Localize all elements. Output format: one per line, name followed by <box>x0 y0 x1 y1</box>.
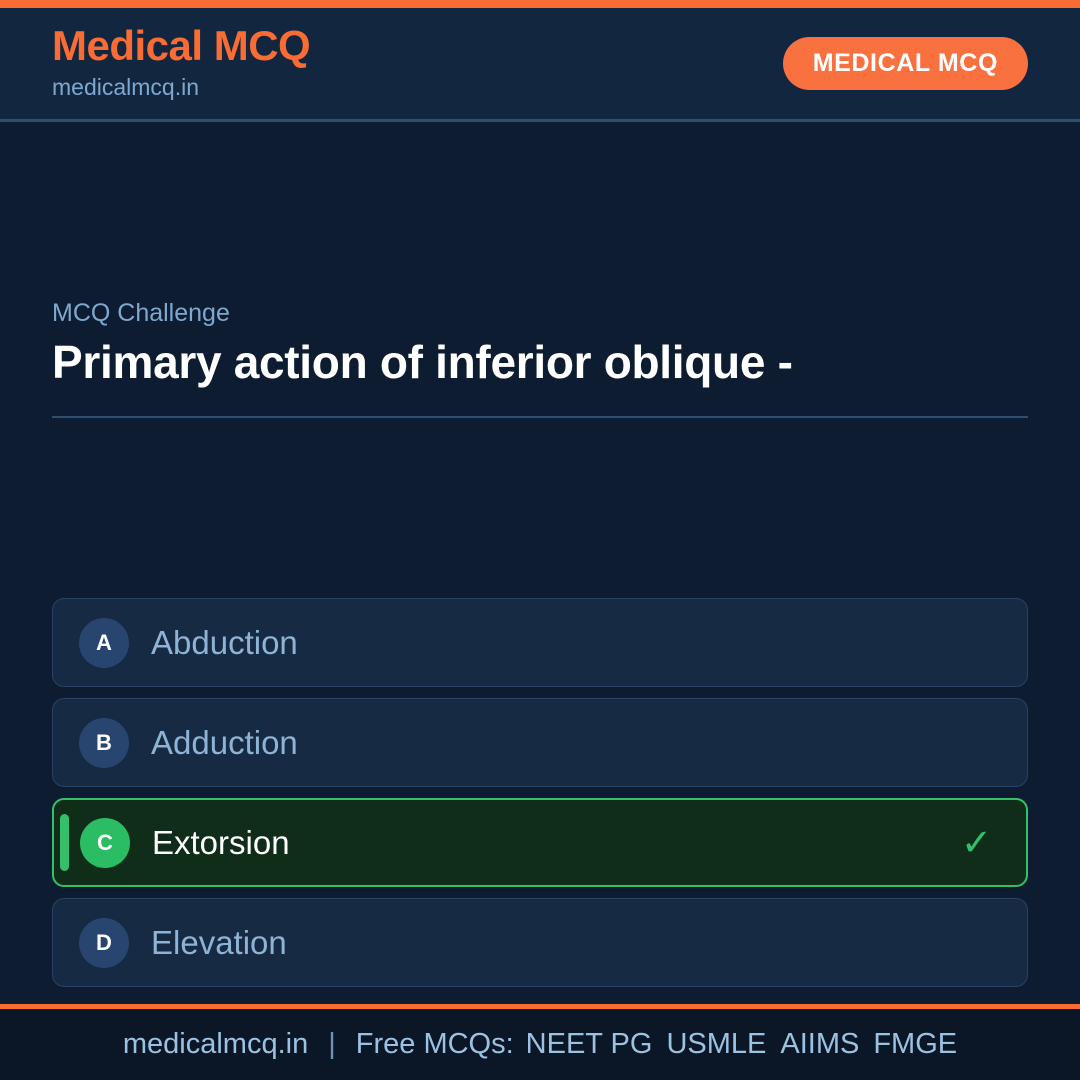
footer-exam-aiims[interactable]: AIIMS <box>780 1028 859 1060</box>
footer-exam-neet-pg[interactable]: NEET PG <box>526 1028 653 1060</box>
brand: Medical MCQ medicalmcq.in <box>52 24 310 103</box>
correct-accent-bar <box>60 814 69 871</box>
footer-exam-usmle[interactable]: USMLE <box>666 1028 766 1060</box>
footer-label: Free MCQs: <box>356 1028 514 1061</box>
question-eyebrow: MCQ Challenge <box>52 298 1028 328</box>
header-badge: MEDICAL MCQ <box>783 37 1028 90</box>
option-label: Adduction <box>151 723 962 763</box>
option-letter-badge: B <box>79 718 129 768</box>
option-label: Abduction <box>151 623 962 663</box>
footer: medicalmcq.in | Free MCQs: NEET PGUSMLEA… <box>0 1004 1080 1080</box>
footer-content: medicalmcq.in | Free MCQs: NEET PGUSMLEA… <box>123 1028 957 1061</box>
footer-exam-fmge[interactable]: FMGE <box>873 1028 957 1060</box>
question-text: Primary action of inferior oblique - <box>52 336 1028 390</box>
option-letter-badge: D <box>79 918 129 968</box>
mcq-card: Medical MCQ medicalmcq.in MEDICAL MCQ MC… <box>0 0 1080 1080</box>
option-a[interactable]: AAbduction✓ <box>52 598 1028 687</box>
option-label: Extorsion <box>152 823 961 863</box>
option-c[interactable]: CExtorsion✓ <box>52 798 1028 887</box>
option-label: Elevation <box>151 923 962 963</box>
question-divider <box>52 416 1028 418</box>
question-block: MCQ Challenge Primary action of inferior… <box>52 298 1028 418</box>
header: Medical MCQ medicalmcq.in MEDICAL MCQ <box>0 8 1080 122</box>
footer-exam-list: NEET PGUSMLEAIIMSFMGE <box>526 1028 957 1061</box>
check-icon: ✓ <box>961 824 992 861</box>
brand-subtitle: medicalmcq.in <box>52 71 310 103</box>
option-letter-badge: C <box>80 818 130 868</box>
option-b[interactable]: BAdduction✓ <box>52 698 1028 787</box>
footer-site-link[interactable]: medicalmcq.in <box>123 1028 308 1061</box>
footer-separator: | <box>328 1028 336 1061</box>
option-d[interactable]: DElevation✓ <box>52 898 1028 987</box>
brand-title: Medical MCQ <box>52 24 310 68</box>
top-accent-bar <box>0 0 1080 8</box>
main-content: MCQ Challenge Primary action of inferior… <box>0 122 1080 1004</box>
options-list: AAbduction✓BAdduction✓CExtorsion✓DElevat… <box>52 598 1028 987</box>
option-letter-badge: A <box>79 618 129 668</box>
